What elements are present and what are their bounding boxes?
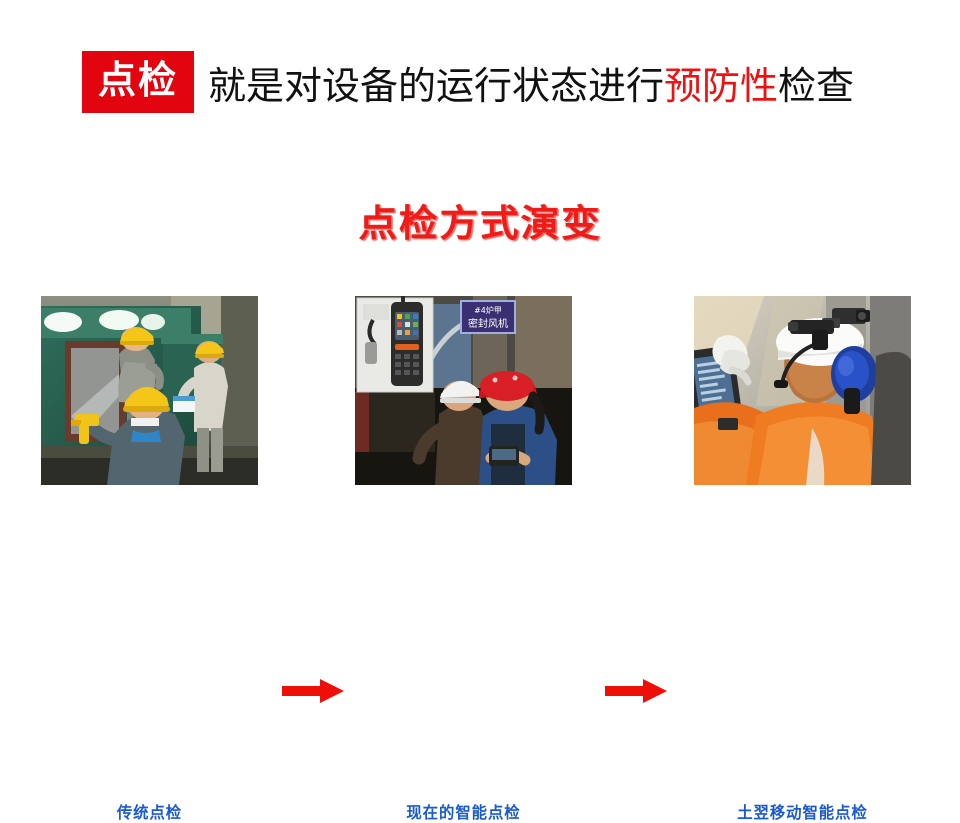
photo-gallery: #4炉甲 密封风机 <box>0 296 960 486</box>
svg-text:#4炉甲: #4炉甲 <box>474 305 502 315</box>
caption-traditional-inspection: 传统点检 <box>45 799 253 823</box>
headline-text-before: 就是对设备的运行状态进行 <box>208 66 664 108</box>
photo-2-illustration: #4炉甲 密封风机 <box>355 296 572 485</box>
photo-current-smart-inspection: #4炉甲 密封风机 <box>355 296 572 485</box>
headline-text-after: 检查 <box>778 66 854 108</box>
svg-text:密封风机: 密封风机 <box>468 317 508 330</box>
caption-current-smart-inspection: 现在的智能点检 <box>359 799 567 823</box>
photo-3-illustration <box>694 296 911 485</box>
arrow-1-icon <box>282 679 344 703</box>
photo-mobile-smart-inspection <box>694 296 911 485</box>
headline-text: 就是对设备的运行状态进行预防性检查 <box>208 55 854 110</box>
arrow-right-icon <box>605 679 667 703</box>
caption-mobile-smart-inspection: 土翌移动智能点检 <box>698 799 906 823</box>
headline-text-highlight: 预防性 <box>664 66 778 108</box>
slide-root: 点检 就是对设备的运行状态进行预防性检查 点检方式演变 <box>0 0 960 533</box>
photo-traditional-inspection <box>41 296 258 485</box>
arrow-right-icon <box>282 679 344 703</box>
section-title: 点检方式演变 <box>0 193 960 247</box>
arrow-2-icon <box>605 679 667 703</box>
headline: 点检 就是对设备的运行状态进行预防性检查 <box>82 50 854 114</box>
photo-1-illustration <box>41 296 258 485</box>
headline-badge: 点检 <box>82 51 194 113</box>
